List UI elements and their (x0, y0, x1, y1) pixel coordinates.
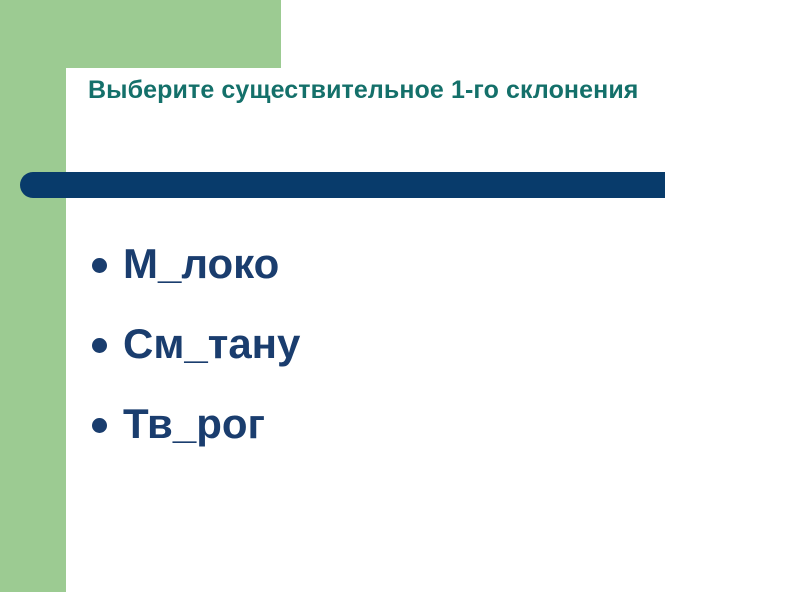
slide-title: Выберите существительное 1-го склонения (88, 74, 778, 106)
top-green-block (0, 0, 281, 68)
title-divider-bar (20, 172, 665, 198)
list-item[interactable]: М_локо (92, 224, 732, 304)
presentation-slide: Выберите существительное 1-го склонения … (0, 0, 800, 600)
list-item[interactable]: См_тану (92, 304, 732, 384)
list-item[interactable]: Тв_рог (92, 384, 732, 464)
answer-options-list: М_локо См_тану Тв_рог (92, 224, 732, 464)
bullet-dot-icon (92, 418, 107, 433)
bullet-dot-icon (92, 258, 107, 273)
list-item-label: М_локо (123, 243, 279, 285)
list-item-label: Тв_рог (123, 403, 265, 445)
bullet-dot-icon (92, 338, 107, 353)
left-green-band (0, 0, 66, 592)
list-item-label: См_тану (123, 323, 300, 365)
